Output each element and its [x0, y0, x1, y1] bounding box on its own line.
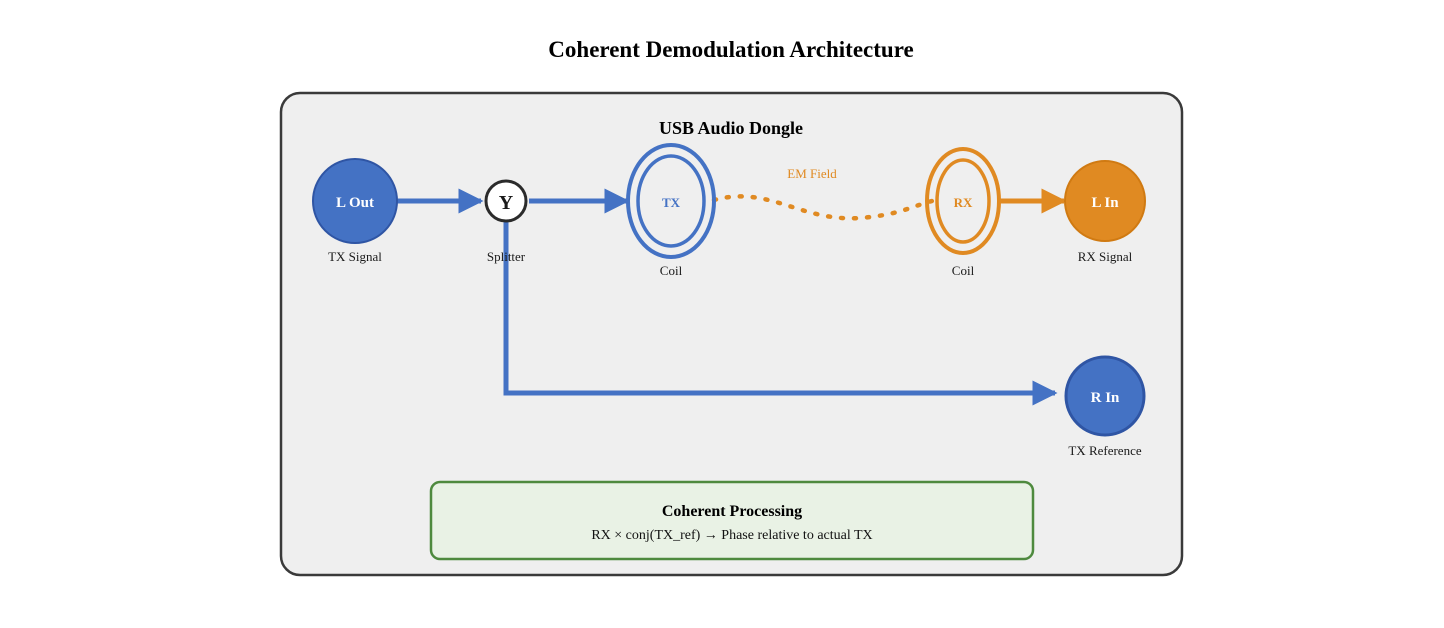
- processing-box-frame: [431, 482, 1033, 559]
- page-title: Coherent Demodulation Architecture: [548, 37, 913, 62]
- diagram-canvas: Coherent Demodulation Architecture USB A…: [0, 0, 1444, 628]
- rx-coil-caption: Coil: [952, 263, 975, 278]
- r-in-caption: TX Reference: [1068, 443, 1141, 458]
- l-in-caption: RX Signal: [1078, 249, 1133, 264]
- processing-formula: RX × conj(TX_ref) → Phase relative to ac…: [591, 528, 872, 543]
- coherent-demodulation-diagram: Coherent Demodulation Architecture USB A…: [0, 0, 1444, 628]
- tx-coil-label: TX: [662, 195, 681, 210]
- splitter-label: Y: [499, 192, 514, 214]
- node-l-in[interactable]: L In: [1065, 161, 1145, 241]
- splitter-caption: Splitter: [487, 249, 526, 264]
- node-splitter[interactable]: Y: [486, 181, 526, 221]
- l-out-caption: TX Signal: [328, 249, 382, 264]
- processing-title: Coherent Processing: [662, 503, 802, 520]
- l-in-label: L In: [1091, 195, 1119, 211]
- tx-coil-caption: Coil: [660, 263, 683, 278]
- rx-coil-label: RX: [954, 195, 973, 210]
- container-label: USB Audio Dongle: [659, 118, 803, 138]
- r-in-label: R In: [1091, 390, 1120, 406]
- node-r-in[interactable]: R In: [1066, 357, 1144, 435]
- em-field-label: EM Field: [787, 166, 837, 181]
- l-out-label: L Out: [336, 195, 374, 211]
- coherent-processing-box: Coherent Processing RX × conj(TX_ref) → …: [431, 482, 1033, 559]
- node-l-out[interactable]: L Out: [313, 159, 397, 243]
